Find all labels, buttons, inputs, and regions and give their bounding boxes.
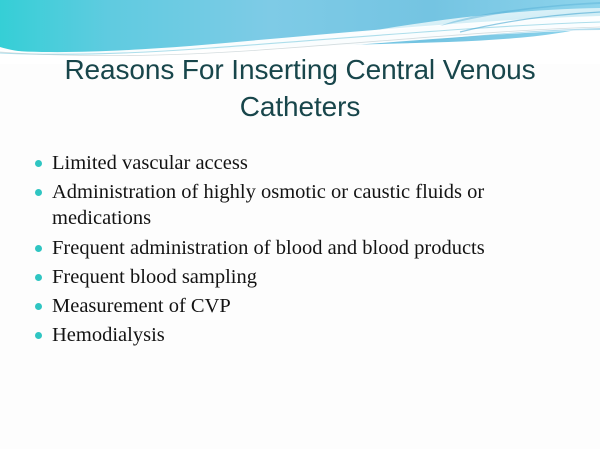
banner-blue-ribbon-1: [440, 2, 600, 26]
list-item-label: Frequent blood sampling: [52, 264, 570, 290]
bullet-dot-icon: [35, 332, 42, 339]
list-item: Limited vascular access: [30, 150, 570, 176]
list-item-label: Frequent administration of blood and blo…: [52, 235, 570, 261]
banner-white-ribbon-upper: [330, 8, 600, 38]
bullet-list: Limited vascular access Administration o…: [30, 150, 570, 352]
bullet-dot-icon: [35, 274, 42, 281]
banner-base-shape: [0, 0, 600, 55]
list-item: Frequent administration of blood and blo…: [30, 235, 570, 261]
bullet-dot-icon: [35, 160, 42, 167]
list-item-label: Administration of highly osmotic or caus…: [52, 179, 570, 231]
banner-highlight-line: [0, 22, 600, 54]
banner-blue-ribbon-2: [400, 28, 600, 44]
list-item-label: Limited vascular access: [52, 150, 570, 176]
title-block: Reasons For Inserting Central Venous Cat…: [38, 52, 562, 126]
list-item-label: Hemodialysis: [52, 322, 570, 348]
bullet-dot-icon: [35, 303, 42, 310]
list-item: Hemodialysis: [30, 322, 570, 348]
page-title: Reasons For Inserting Central Venous Cat…: [38, 52, 562, 126]
bullet-dot-icon: [35, 245, 42, 252]
list-item: Measurement of CVP: [30, 293, 570, 319]
presentation-slide: Reasons For Inserting Central Venous Cat…: [0, 0, 600, 449]
list-item: Frequent blood sampling: [30, 264, 570, 290]
banner-blue-stroke: [460, 12, 600, 32]
list-item-label: Measurement of CVP: [52, 293, 570, 319]
bullet-dot-icon: [35, 189, 42, 196]
list-item: Administration of highly osmotic or caus…: [30, 179, 570, 231]
